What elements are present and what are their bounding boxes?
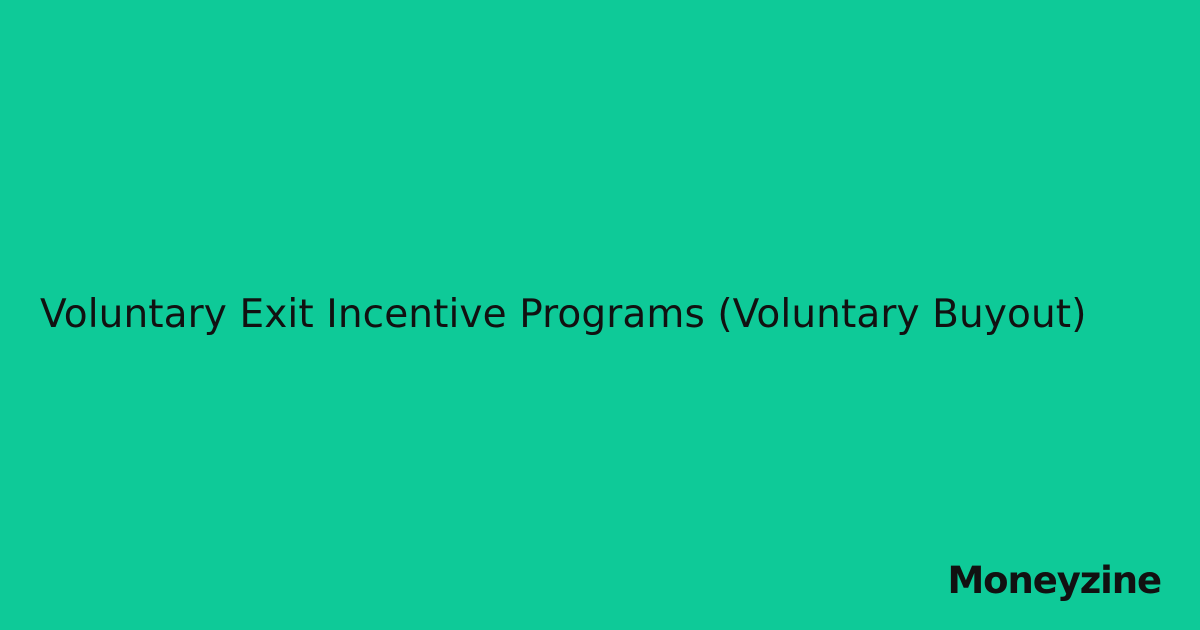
share-card: Voluntary Exit Incentive Programs (Volun… — [0, 0, 1200, 630]
moneyzine-wordmark: Moneyzine — [947, 562, 1161, 599]
page-title: Voluntary Exit Incentive Programs (Volun… — [40, 290, 1087, 340]
brand-logo: Moneyzine — [947, 562, 1161, 599]
title-container: Voluntary Exit Incentive Programs (Volun… — [40, 0, 1040, 630]
